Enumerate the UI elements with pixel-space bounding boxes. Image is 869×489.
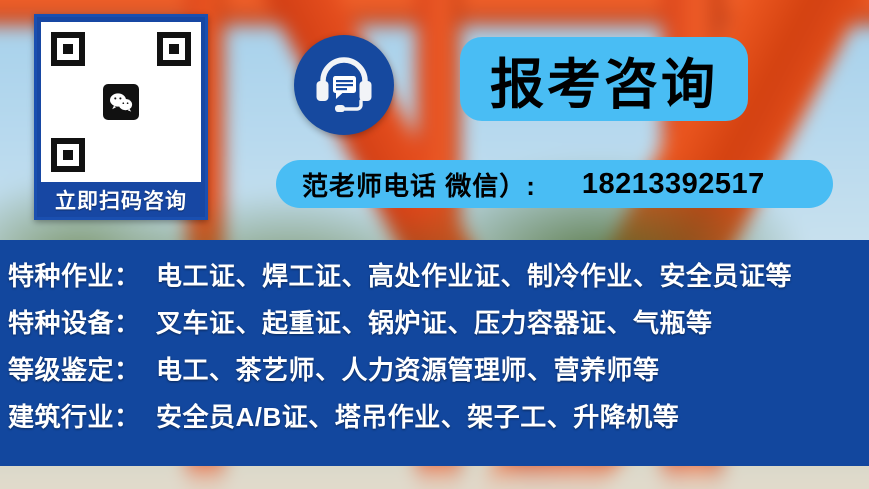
info-row-category: 建筑行业： xyxy=(8,397,156,434)
title-pill: 报考咨询 xyxy=(460,37,748,121)
title-pill-text: 报考咨询 xyxy=(490,40,718,119)
qr-card[interactable]: 立即扫码咨询 xyxy=(34,14,208,220)
info-row-category: 特种设备： xyxy=(8,303,156,340)
info-row: 特种设备： 叉车证、起重证、锅炉证、压力容器证、气瓶等 xyxy=(0,303,869,350)
phone-pill[interactable]: 范老师电话 微信）: 18213392517 xyxy=(276,160,833,208)
phone-number[interactable]: 18213392517 xyxy=(582,168,765,201)
info-row: 特种作业： 电工证、焊工证、高处作业证、制冷作业、安全员证等 xyxy=(0,256,869,303)
info-row-items: 电工、茶艺师、人力资源管理师、营养师等 xyxy=(156,350,869,387)
promo-poster: 立即扫码咨询 报考咨询 范老师电话 微信）: 18213392517 xyxy=(0,0,869,489)
qr-code-image xyxy=(47,28,195,176)
qr-finder-bottom-left-icon xyxy=(51,138,85,172)
info-row-items: 叉车证、起重证、锅炉证、压力容器证、气瓶等 xyxy=(156,303,869,340)
info-row-category: 特种作业： xyxy=(8,256,156,293)
info-row-items: 安全员A/B证、塔吊作业、架子工、升降机等 xyxy=(156,397,869,434)
phone-label: 范老师电话 微信）: xyxy=(302,166,536,203)
qr-caption: 立即扫码咨询 xyxy=(55,182,187,217)
wechat-icon xyxy=(103,84,139,120)
qr-finder-top-left-icon xyxy=(51,32,85,66)
qr-code-container[interactable] xyxy=(41,22,201,182)
info-row: 等级鉴定： 电工、茶艺师、人力资源管理师、营养师等 xyxy=(0,350,869,397)
info-row-category: 等级鉴定： xyxy=(8,350,156,387)
info-panel: 特种作业： 电工证、焊工证、高处作业证、制冷作业、安全员证等 特种设备： 叉车证… xyxy=(0,240,869,466)
headset-chat-icon xyxy=(294,35,394,135)
info-row-items: 电工证、焊工证、高处作业证、制冷作业、安全员证等 xyxy=(156,256,869,293)
qr-finder-top-right-icon xyxy=(157,32,191,66)
info-row: 建筑行业： 安全员A/B证、塔吊作业、架子工、升降机等 xyxy=(0,397,869,444)
